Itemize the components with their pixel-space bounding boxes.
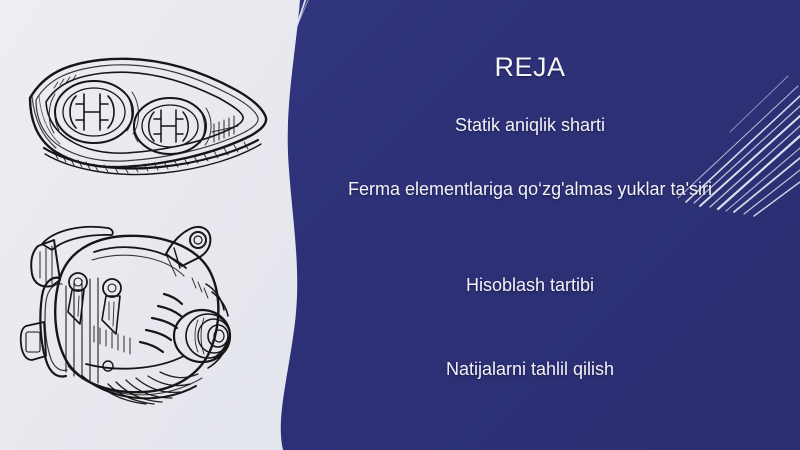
illustration-panel	[0, 0, 310, 450]
list-item: Hisoblash tartibi	[310, 272, 750, 298]
page-title: REJA	[310, 52, 750, 83]
list-item: Natijalarni tahlil qilish	[310, 356, 750, 382]
list-item: Ferma elementlariga qo‘zg'almas yuklar t…	[310, 176, 750, 202]
presentation-slide: REJA Statik aniqlik sharti Ferma element…	[0, 0, 800, 450]
slide-text-content: REJA Statik aniqlik sharti Ferma element…	[310, 0, 750, 450]
list-item: Statik aniqlik sharti	[310, 112, 750, 138]
